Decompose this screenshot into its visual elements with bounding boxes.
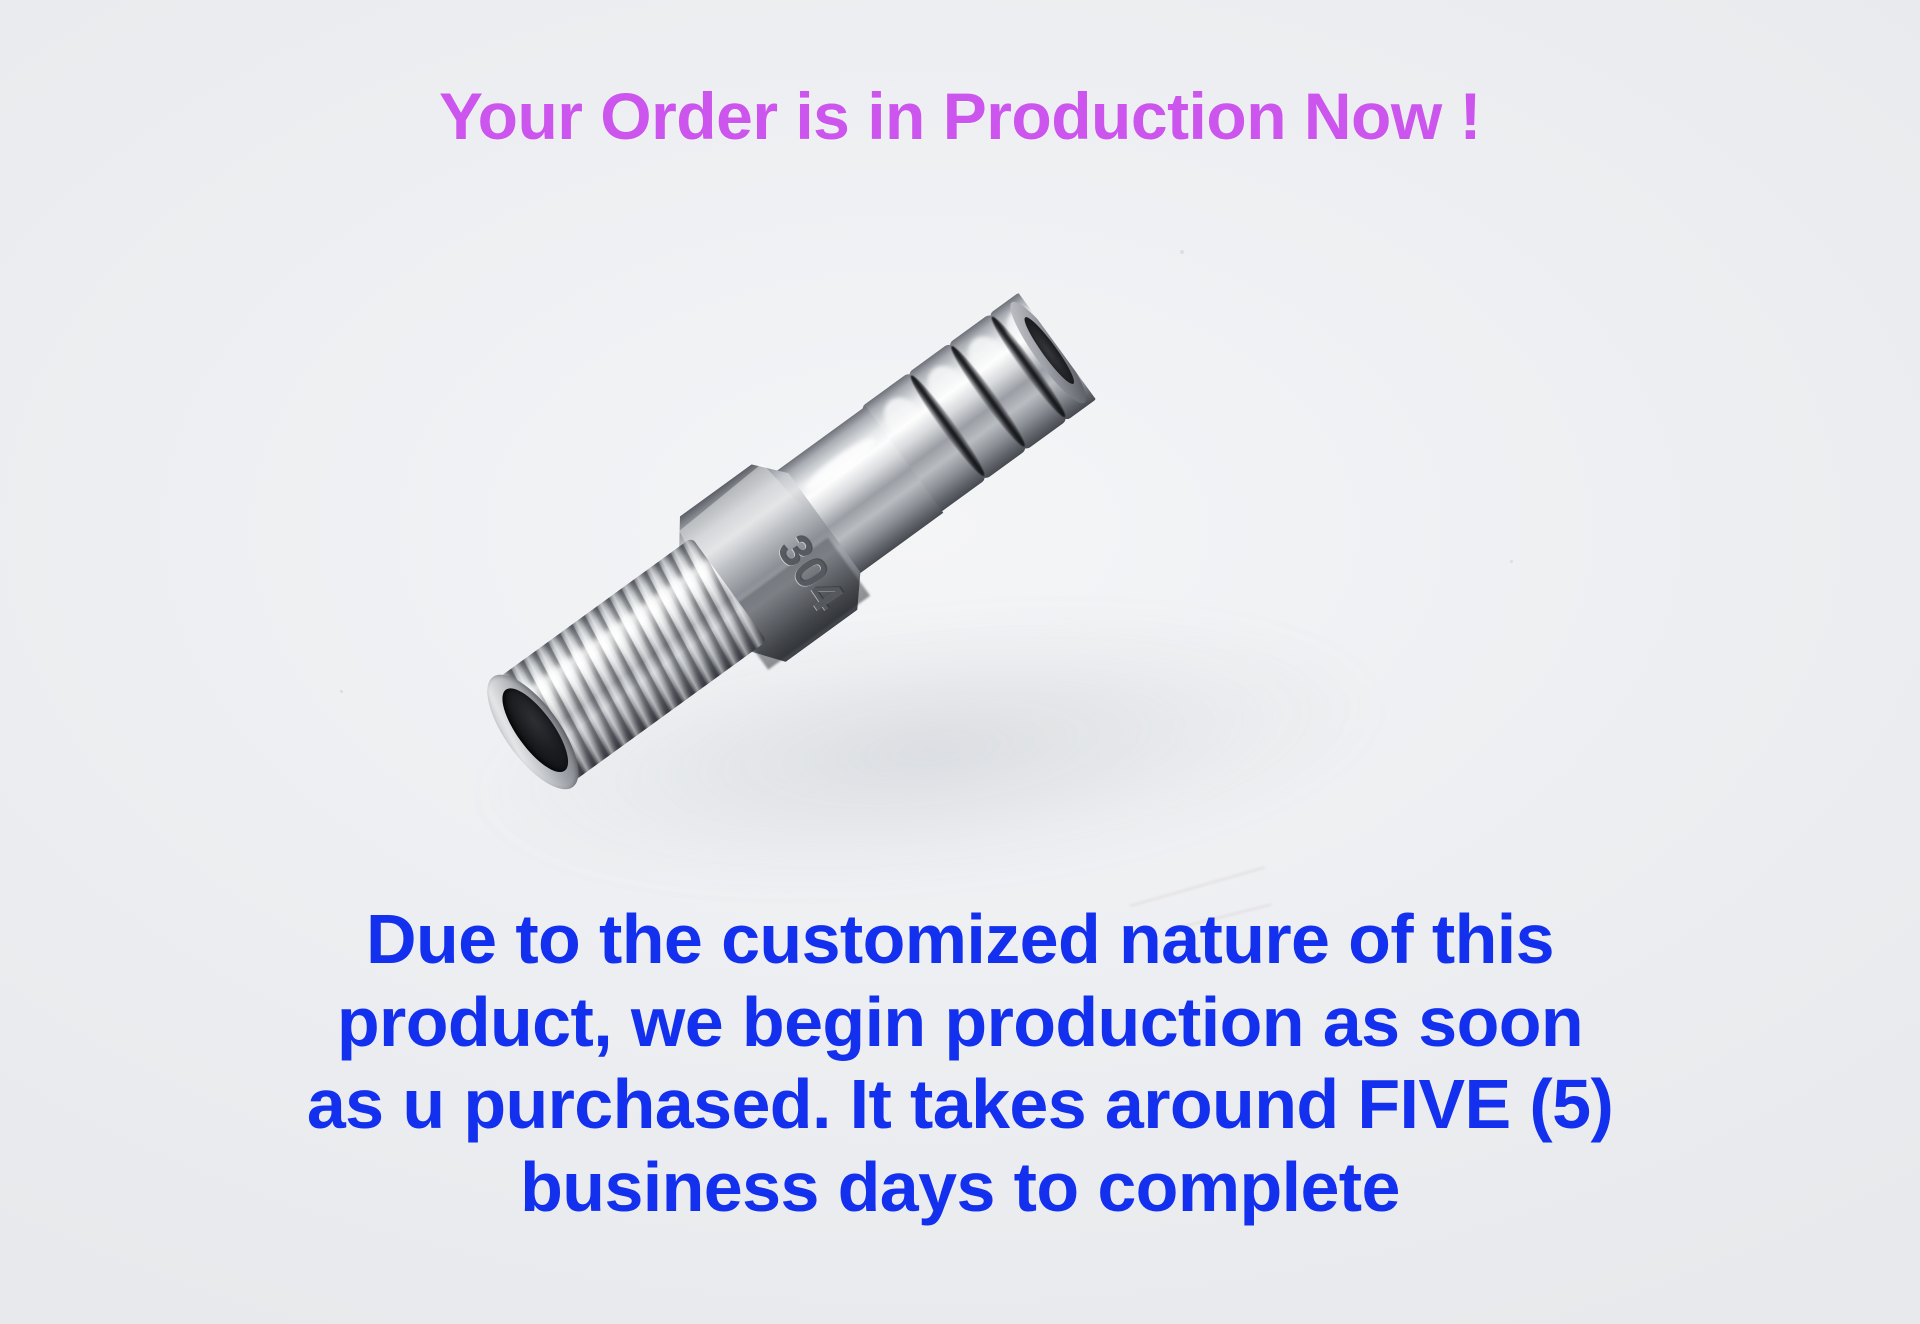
- page-title: Your Order is in Production Now !: [0, 78, 1920, 154]
- promo-banner: Your Order is in Production Now !: [0, 0, 1920, 1324]
- body-line: Due to the customized nature of this: [60, 898, 1860, 981]
- body-line: business days to complete: [60, 1146, 1860, 1229]
- backdrop-speck: [1180, 250, 1184, 254]
- body-line: product, we begin production as soon: [60, 981, 1860, 1064]
- backdrop-speck: [340, 690, 343, 693]
- backdrop-speck: [1510, 560, 1513, 563]
- body-copy: Due to the customized nature of this pro…: [60, 898, 1860, 1228]
- body-line: as u purchased. It takes around FIVE (5): [60, 1063, 1860, 1146]
- product-photo: 304: [470, 300, 1150, 730]
